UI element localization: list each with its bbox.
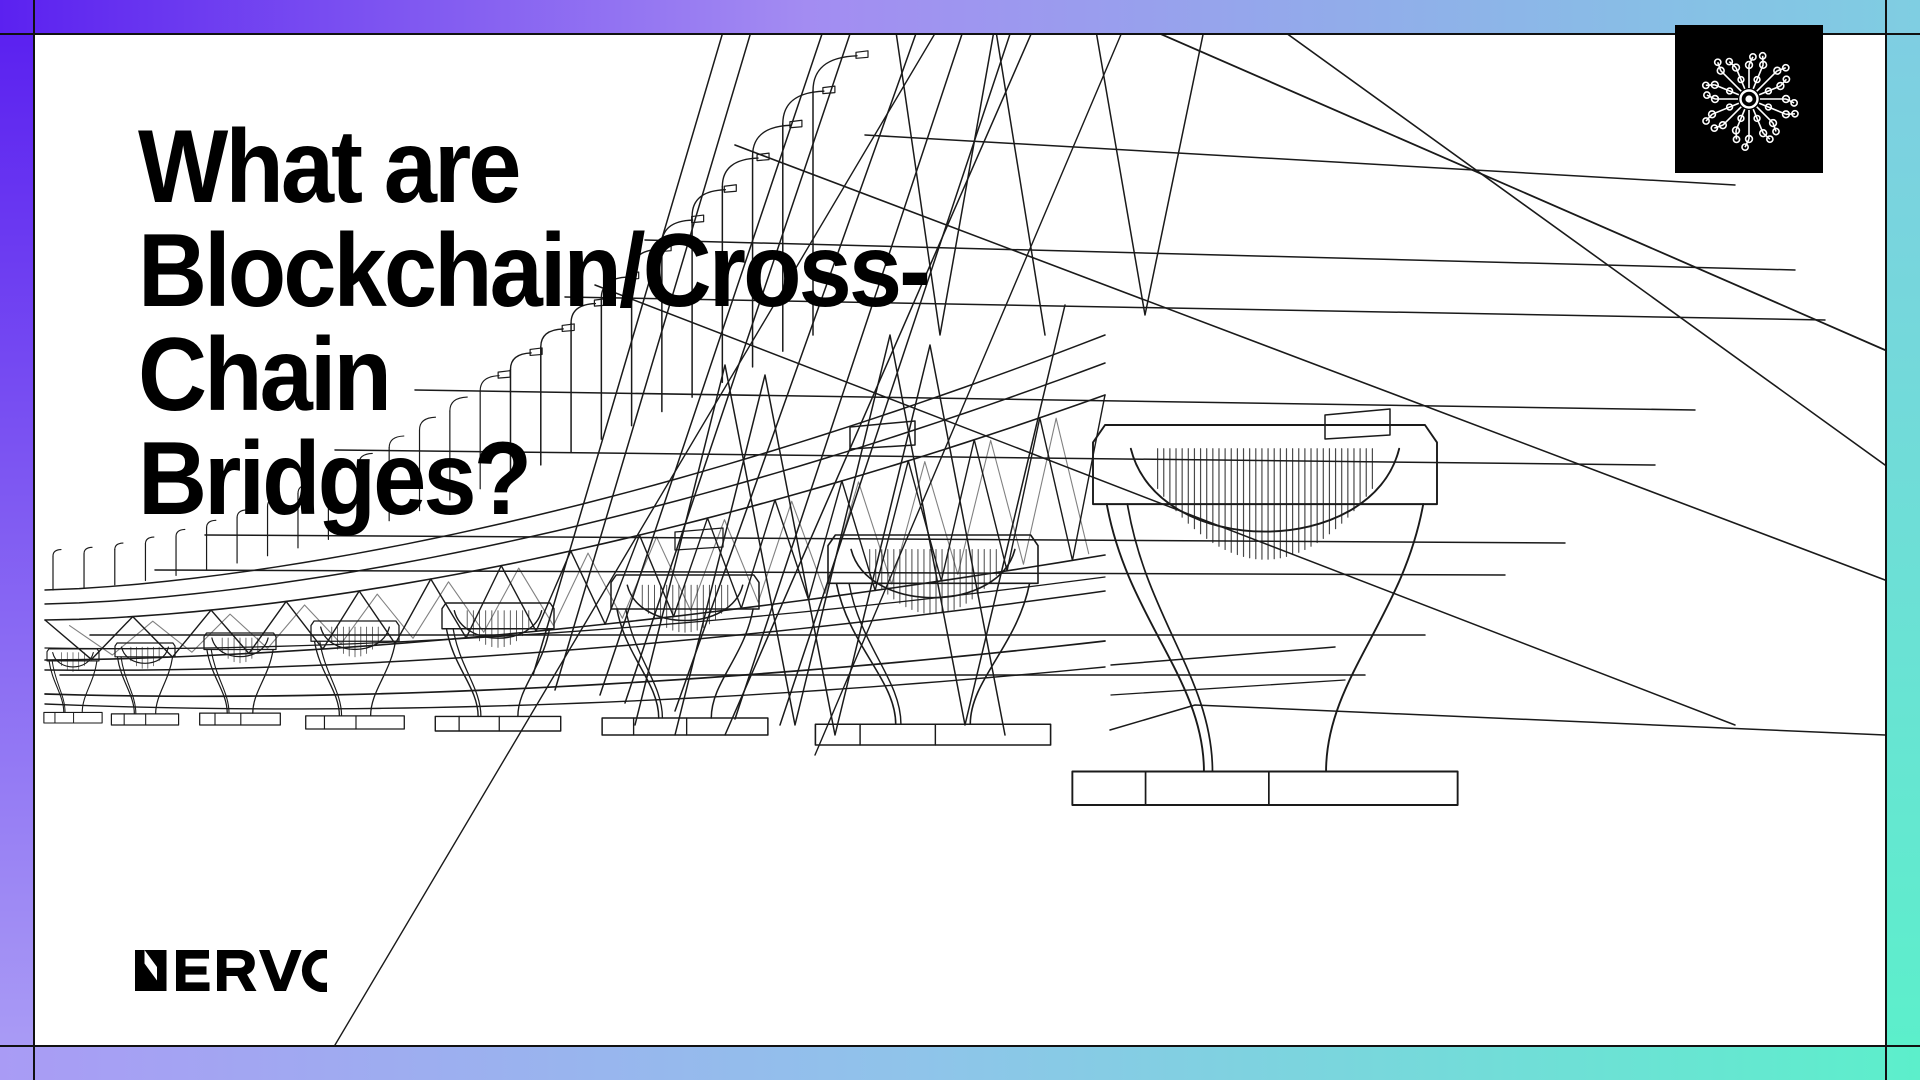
frame-rule-top xyxy=(0,33,1920,35)
frame-rule-right xyxy=(1885,0,1887,1080)
content-card: What are Blockchain/Cross-Chain Bridges? xyxy=(35,35,1885,1045)
frame-bar-bottom xyxy=(0,1047,1920,1080)
nervos-wordmark xyxy=(135,950,327,997)
page-title: What are Blockchain/Cross-Chain Bridges? xyxy=(138,115,1132,531)
slide-root: What are Blockchain/Cross-Chain Bridges? xyxy=(0,0,1920,1080)
frame-bar-left xyxy=(0,33,33,1047)
nervos-wordmark-icon xyxy=(135,950,327,992)
frame-bar-top xyxy=(0,0,1920,33)
nervos-network-logo-icon xyxy=(1675,25,1823,173)
frame-bar-right xyxy=(1887,33,1920,1047)
frame-rule-bottom xyxy=(0,1045,1920,1047)
frame-rule-left xyxy=(33,0,35,1080)
nervos-logo-badge xyxy=(1675,25,1823,173)
